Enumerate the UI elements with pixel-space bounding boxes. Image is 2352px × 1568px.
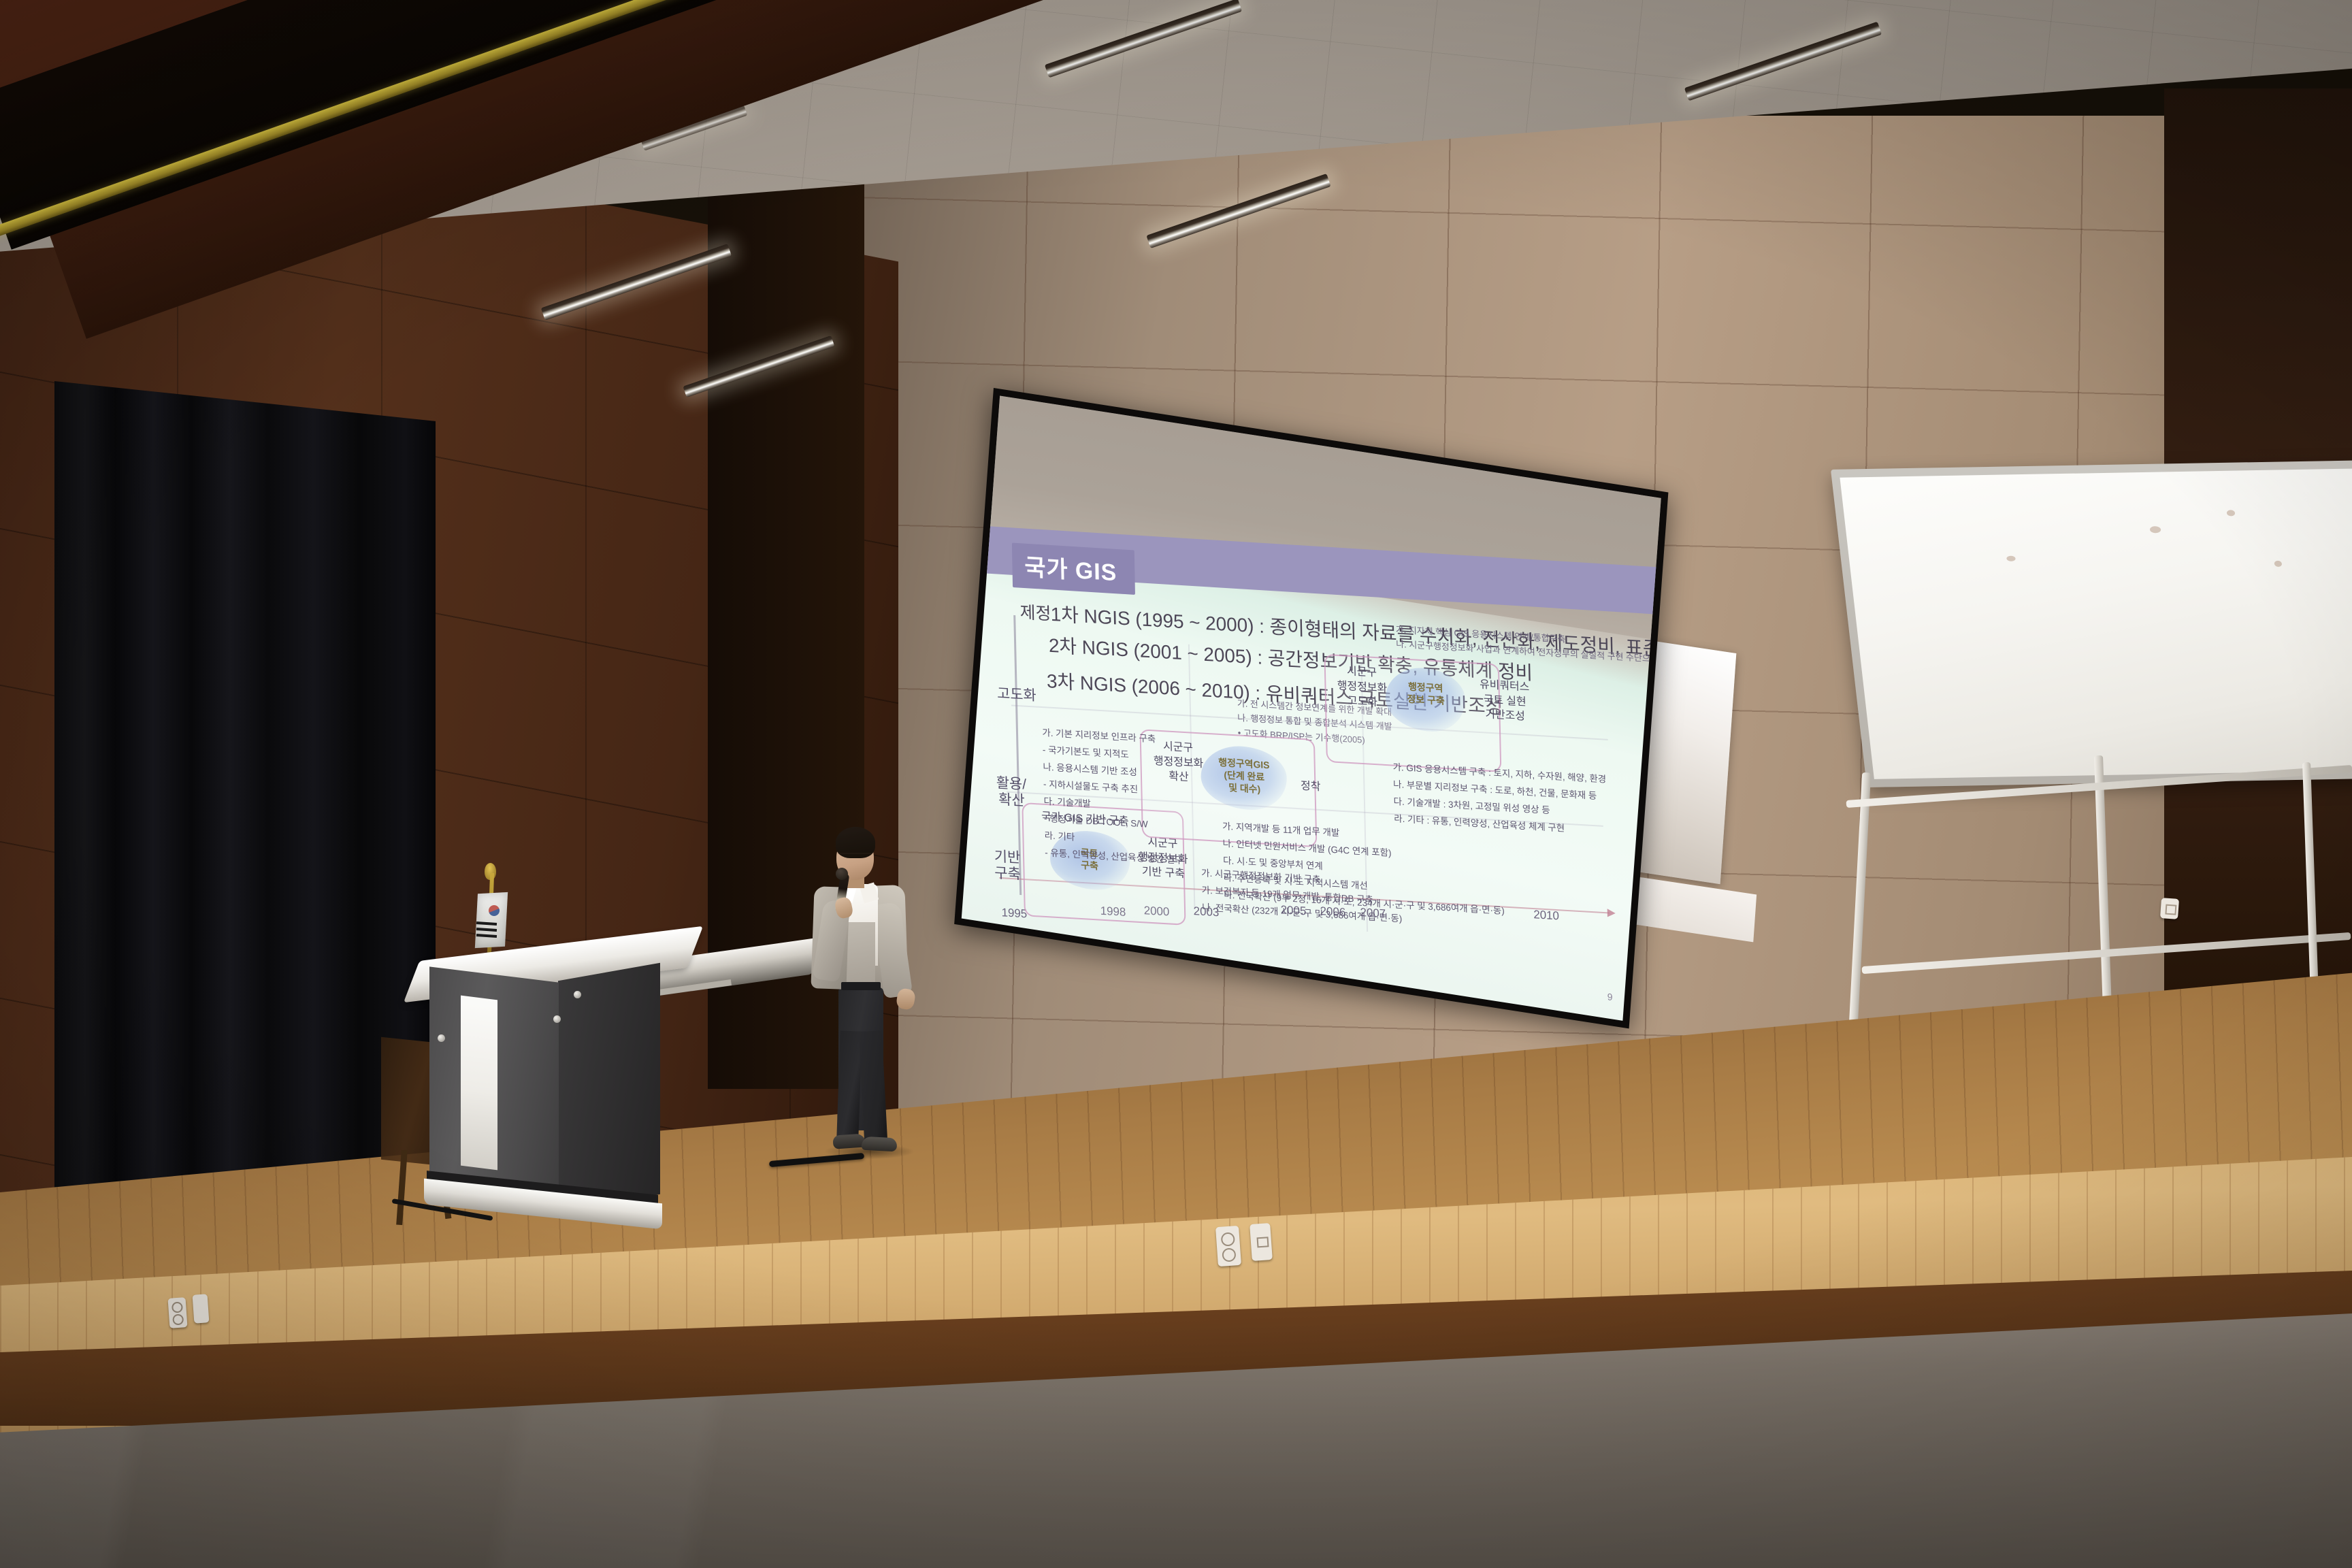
jack-plate-rear-wall[interactable] xyxy=(2160,898,2179,919)
whiteboard-smudge-3 xyxy=(2006,556,2016,561)
lectern-body-side xyxy=(558,963,660,1212)
jack-plate-stage-center[interactable] xyxy=(1249,1223,1273,1261)
lectern-knob-3 xyxy=(574,991,581,998)
jack-plate-stage-left[interactable] xyxy=(193,1294,210,1323)
ngis-sep-2: : xyxy=(1252,647,1268,669)
whiteboard-smudge-4 xyxy=(2274,561,2283,567)
outlet-socket-left-lower xyxy=(172,1313,184,1325)
chart-ylabel-top: 고도화 xyxy=(987,685,1047,705)
phase-2-blob-label: 행정구역GIS (단계 완료 및 대수) xyxy=(1207,755,1281,797)
auditorium-scene: 국가 GIS 제정 1차 NGIS (1995 ~ 2000) : 종이형태의 … xyxy=(0,0,2352,1568)
screen-surface: 국가 GIS 제정 1차 NGIS (1995 ~ 2000) : 종이형태의 … xyxy=(962,396,1661,1021)
slide-page-number: 9 xyxy=(1607,991,1612,1002)
chart-xtick-1995: 1995 xyxy=(1001,906,1027,921)
slide-title: 국가 GIS xyxy=(1012,542,1135,594)
power-outlet-stage-center[interactable] xyxy=(1215,1226,1241,1267)
stage-curtain xyxy=(54,381,436,1286)
ngis-line-3-label: 3차 NGIS (2006 ~ 2010) xyxy=(1047,670,1250,703)
slide-canvas: 국가 GIS 제정 1차 NGIS (1995 ~ 2000) : 종이형태의 … xyxy=(966,402,1657,1015)
whiteboard-smudge-1 xyxy=(2150,526,2161,533)
presenter-leg-left xyxy=(836,1030,862,1140)
lectern-knob-1 xyxy=(438,1034,445,1042)
phase-3-blob-label: 행정구역 정보 구축 xyxy=(1392,680,1458,708)
phase-2-right-label: 정착 xyxy=(1287,778,1334,796)
phase-2-bullets-right: 가. 지역개발 등 11개 업무 개발 나. 인터넷 민원서비스 개발 (G4C… xyxy=(1222,818,1505,920)
ngis-sep-1: : xyxy=(1254,615,1270,637)
outlet-socket-lower xyxy=(1222,1247,1236,1262)
lectern[interactable] xyxy=(419,932,704,1239)
presenter xyxy=(783,827,932,1167)
jack-port-icon xyxy=(1257,1237,1269,1247)
power-outlet-stage-left[interactable] xyxy=(167,1297,187,1328)
phase-3-box-label: 시군구 행정정보화 고도화 xyxy=(1332,664,1392,711)
projection-screen: 국가 GIS 제정 1차 NGIS (1995 ~ 2000) : 종이형태의 … xyxy=(954,388,1668,1028)
ngis-line-1-label: 1차 NGIS (1995 ~ 2000) xyxy=(1050,603,1254,636)
whiteboard-surface[interactable] xyxy=(1840,468,2352,779)
presenter-belt xyxy=(841,982,881,990)
presenter-shoe-right xyxy=(862,1137,898,1152)
ngis-line-2-label: 2차 NGIS (2001 ~ 2005) xyxy=(1049,635,1252,668)
lectern-knob-2 xyxy=(553,1015,561,1023)
outlet-socket-upper xyxy=(1221,1232,1235,1246)
outlet-socket-left-upper xyxy=(171,1301,183,1313)
whiteboard-smudge-2 xyxy=(2227,510,2236,516)
phase-2-bullets-left: 가. 기본 지리정보 인프라 구축 - 국가기본도 및 지적도 나. 응용시스템… xyxy=(1042,725,1183,870)
phase-3-bullets: 가. GIS 응용시스템 구축 : 토지, 지하, 수자원, 해양, 환경 나.… xyxy=(1393,759,1608,840)
jack-port-rear-icon xyxy=(2165,904,2176,915)
lectern-white-stripe xyxy=(461,996,497,1171)
chart-xtick-2010: 2010 xyxy=(1533,909,1559,924)
mobile-whiteboard[interactable] xyxy=(1831,460,2352,787)
slide-subtitle-left: 제정 xyxy=(1019,599,1051,625)
phase-3-right-label: 유비쿼터스 국토 실현 기반조성 xyxy=(1468,677,1542,725)
glasses-icon xyxy=(838,853,871,861)
